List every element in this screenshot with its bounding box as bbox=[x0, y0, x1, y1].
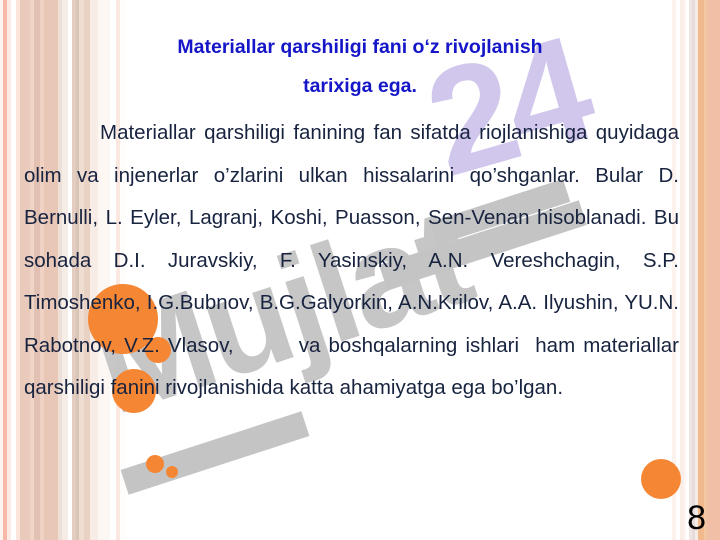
slide-title-line-2: tarixiga ega. bbox=[40, 67, 680, 106]
slide-content: Materiallar qarshiligi fani o‘z rivojlan… bbox=[0, 0, 720, 540]
presentation-slide: 24 Mujlat Materiallar qarshiligi fani o‘… bbox=[0, 0, 720, 540]
page-number: 8 bbox=[687, 499, 706, 538]
slide-title: Materiallar qarshiligi fani o‘z rivojlan… bbox=[40, 28, 680, 106]
slide-title-line-1: Materiallar qarshiligi fani o‘z rivojlan… bbox=[40, 28, 680, 67]
slide-body-paragraph: Materiallar qarshiligi fanining fan sifa… bbox=[24, 112, 679, 410]
